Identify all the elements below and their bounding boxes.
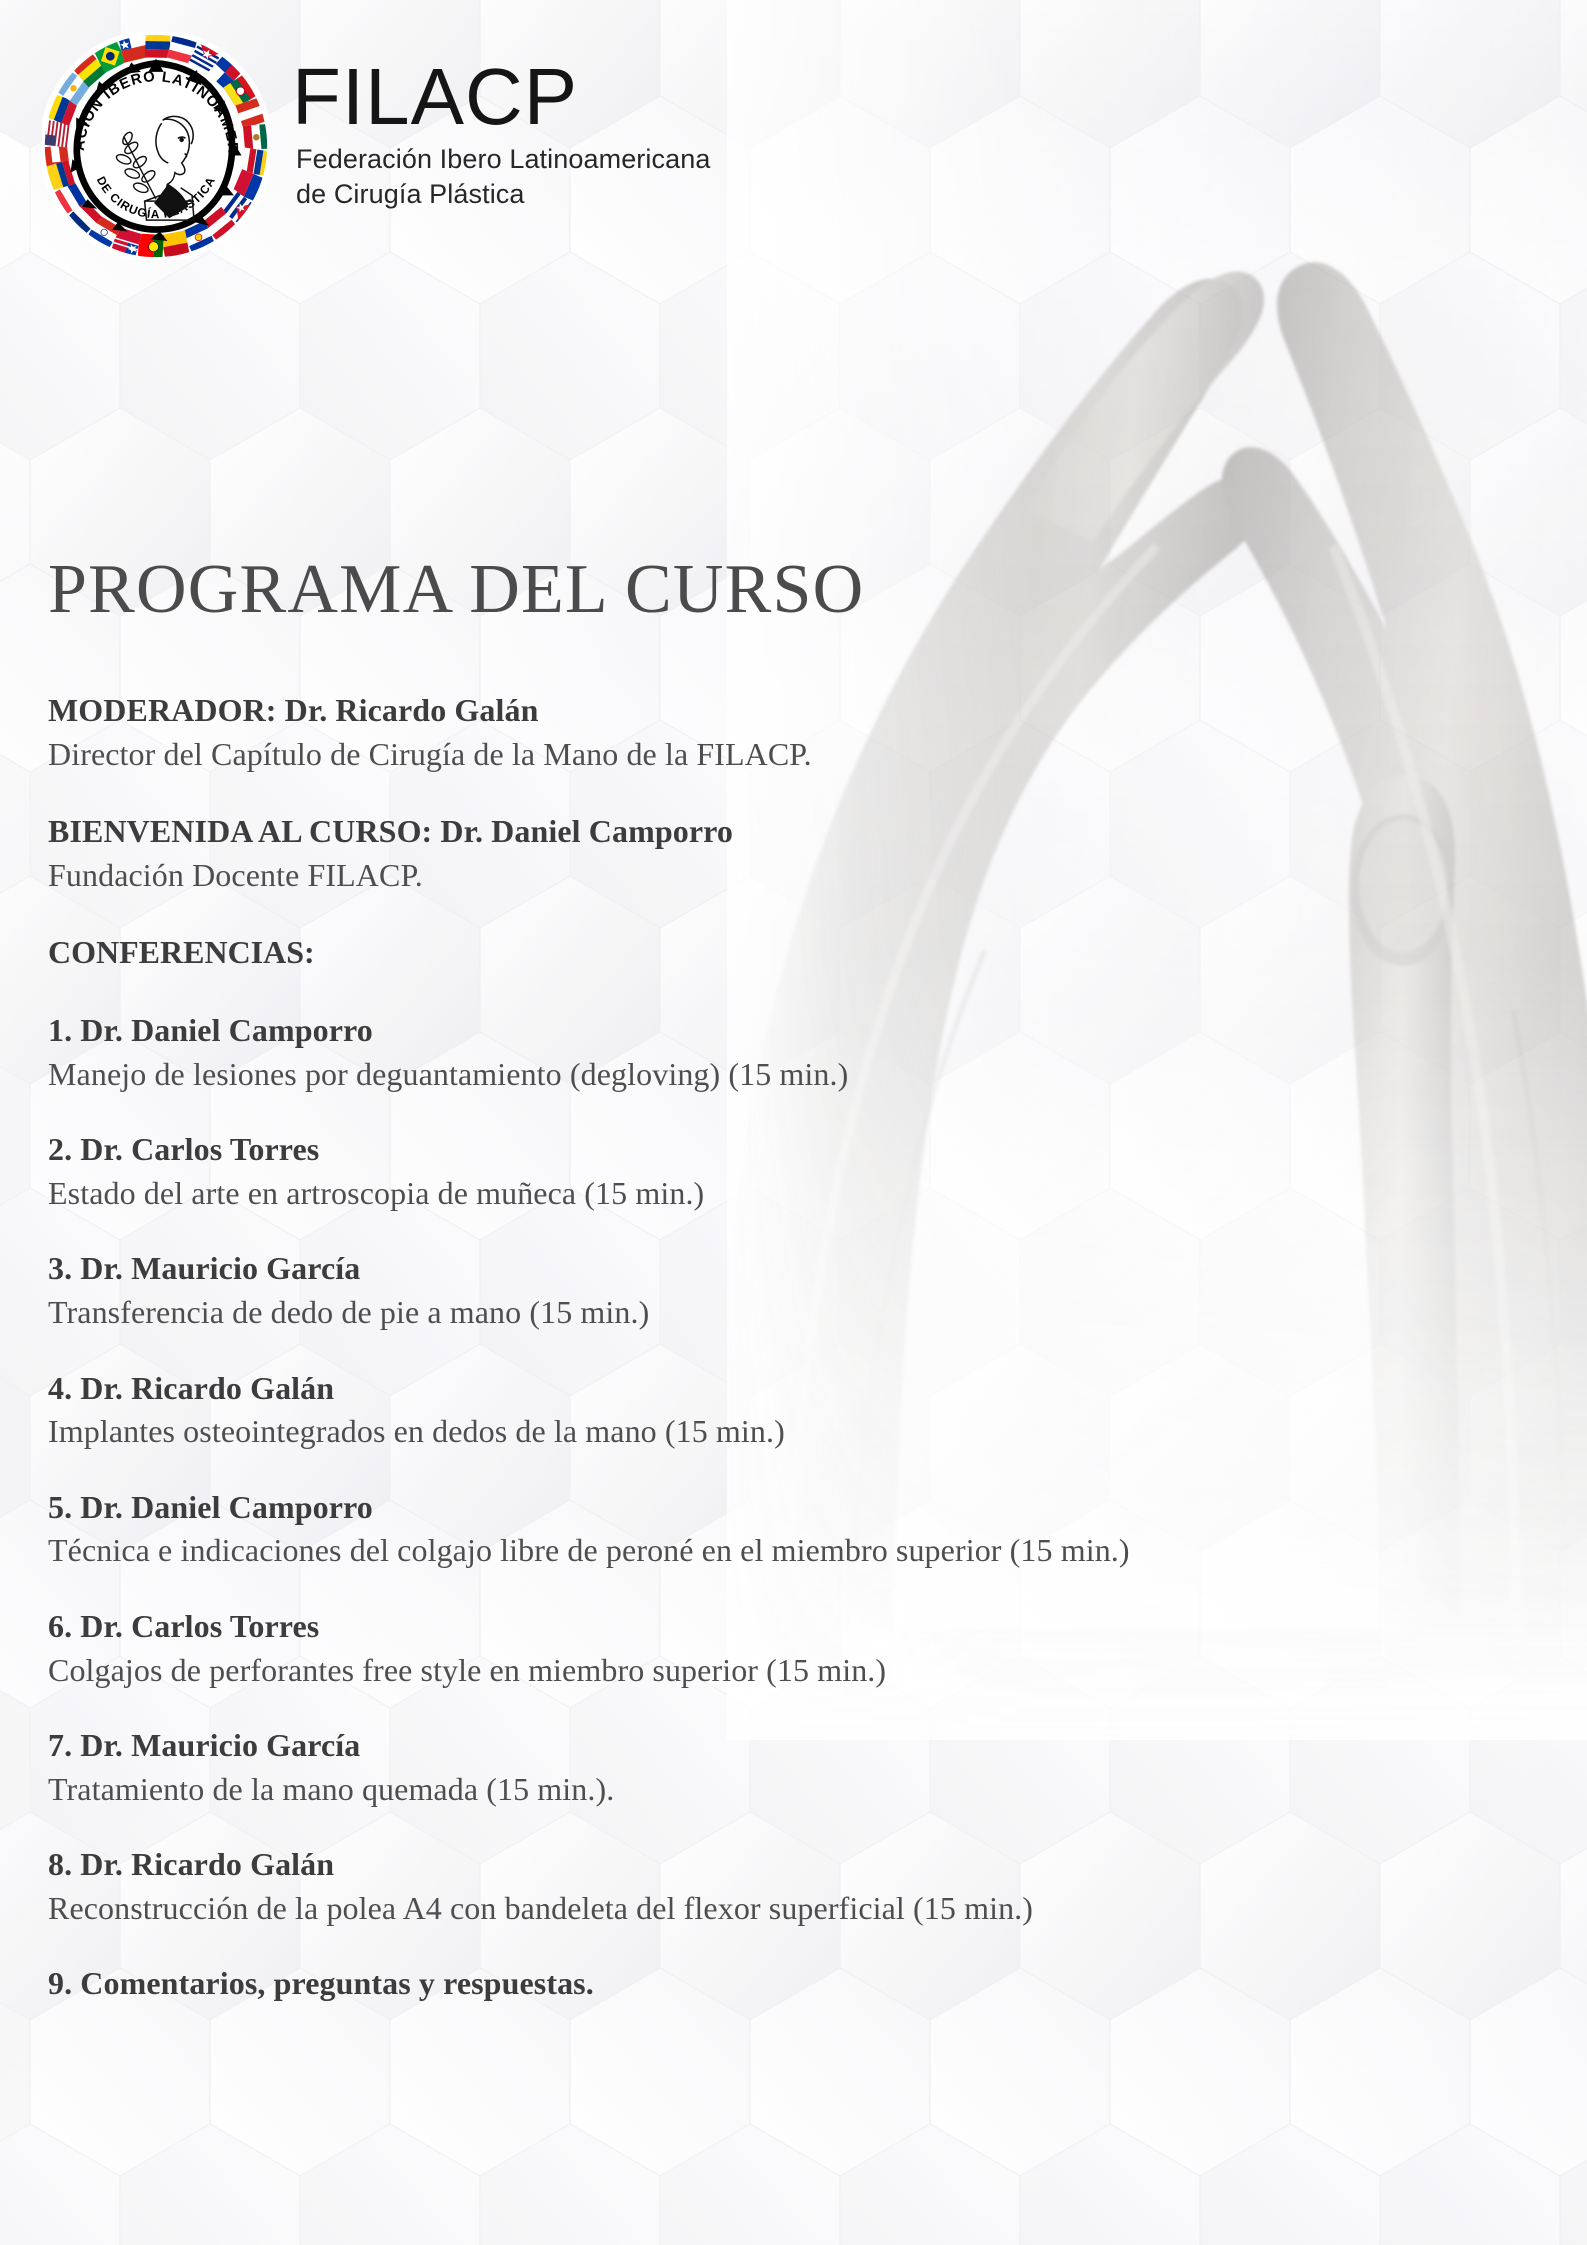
moderator-detail: Director del Capítulo de Cirugía de la M… bbox=[48, 734, 1518, 776]
brand-subtitle: Federación Ibero Latinoamericana de Ciru… bbox=[296, 142, 710, 212]
talk-detail: Manejo de lesiones por deguantamiento (d… bbox=[48, 1054, 1518, 1096]
talk-item: 4. Dr. Ricardo Galán Implantes osteointe… bbox=[48, 1368, 1518, 1453]
talk-detail: Estado del arte en artroscopia de muñeca… bbox=[48, 1173, 1518, 1215]
talk-item: 7. Dr. Mauricio García Tratamiento de la… bbox=[48, 1725, 1518, 1810]
brand-subtitle-line2: de Cirugía Plástica bbox=[296, 177, 710, 212]
welcome-block: BIENVENIDA AL CURSO: Dr. Daniel Camporro… bbox=[48, 811, 1518, 896]
talk-lead: 8. Dr. Ricardo Galán bbox=[48, 1844, 1518, 1886]
talk-detail: Implantes osteointegrados en dedos de la… bbox=[48, 1411, 1518, 1453]
talk-lead: 5. Dr. Daniel Camporro bbox=[48, 1487, 1518, 1529]
conferences-label: CONFERENCIAS: bbox=[48, 932, 1518, 974]
talk-item: 2. Dr. Carlos Torres Estado del arte en … bbox=[48, 1129, 1518, 1214]
program-content: MODERADOR: Dr. Ricardo Galán Director de… bbox=[48, 690, 1518, 2005]
talk-detail: Transferencia de dedo de pie a mano (15 … bbox=[48, 1292, 1518, 1334]
filacp-emblem-icon: FEDERACIÓN IBERO LATINOAMERICANA DE CIRU… bbox=[42, 32, 270, 260]
talk-item: 5. Dr. Daniel Camporro Técnica e indicac… bbox=[48, 1487, 1518, 1572]
conferences-heading-block: CONFERENCIAS: bbox=[48, 932, 1518, 974]
talk-detail: Colgajos de perforantes free style en mi… bbox=[48, 1650, 1518, 1692]
filacp-logo-block: FEDERACIÓN IBERO LATINOAMERICANA DE CIRU… bbox=[42, 32, 710, 260]
talk-detail: Técnica e indicaciones del colgajo libre… bbox=[48, 1530, 1518, 1572]
talk-lead: 9. Comentarios, preguntas y respuestas. bbox=[48, 1963, 1518, 2005]
moderator-lead: MODERADOR: Dr. Ricardo Galán bbox=[48, 690, 1518, 732]
talk-detail: Tratamiento de la mano quemada (15 min.)… bbox=[48, 1769, 1518, 1811]
moderator-block: MODERADOR: Dr. Ricardo Galán Director de… bbox=[48, 690, 1518, 775]
brand-name: FILACP bbox=[292, 58, 710, 136]
talk-lead: 7. Dr. Mauricio García bbox=[48, 1725, 1518, 1767]
talk-item: 9. Comentarios, preguntas y respuestas. bbox=[48, 1963, 1518, 2005]
brand-wordmark: FILACP Federación Ibero Latinoamericana … bbox=[292, 32, 710, 213]
brand-subtitle-line1: Federación Ibero Latinoamericana bbox=[296, 142, 710, 177]
talk-lead: 4. Dr. Ricardo Galán bbox=[48, 1368, 1518, 1410]
welcome-detail: Fundación Docente FILACP. bbox=[48, 855, 1518, 897]
talk-item: 1. Dr. Daniel Camporro Manejo de lesione… bbox=[48, 1010, 1518, 1095]
welcome-lead: BIENVENIDA AL CURSO: Dr. Daniel Camporro bbox=[48, 811, 1518, 853]
talk-lead: 1. Dr. Daniel Camporro bbox=[48, 1010, 1518, 1052]
talk-detail: Reconstrucción de la polea A4 con bandel… bbox=[48, 1888, 1518, 1930]
talk-lead: 6. Dr. Carlos Torres bbox=[48, 1606, 1518, 1648]
talk-item: 6. Dr. Carlos Torres Colgajos de perfora… bbox=[48, 1606, 1518, 1691]
page-title: PROGRAMA DEL CURSO bbox=[48, 555, 864, 625]
talk-lead: 2. Dr. Carlos Torres bbox=[48, 1129, 1518, 1171]
talk-item: 8. Dr. Ricardo Galán Reconstrucción de l… bbox=[48, 1844, 1518, 1929]
talk-lead: 3. Dr. Mauricio García bbox=[48, 1248, 1518, 1290]
poster-page: FEDERACIÓN IBERO LATINOAMERICANA DE CIRU… bbox=[0, 0, 1587, 2245]
talk-item: 3. Dr. Mauricio García Transferencia de … bbox=[48, 1248, 1518, 1333]
